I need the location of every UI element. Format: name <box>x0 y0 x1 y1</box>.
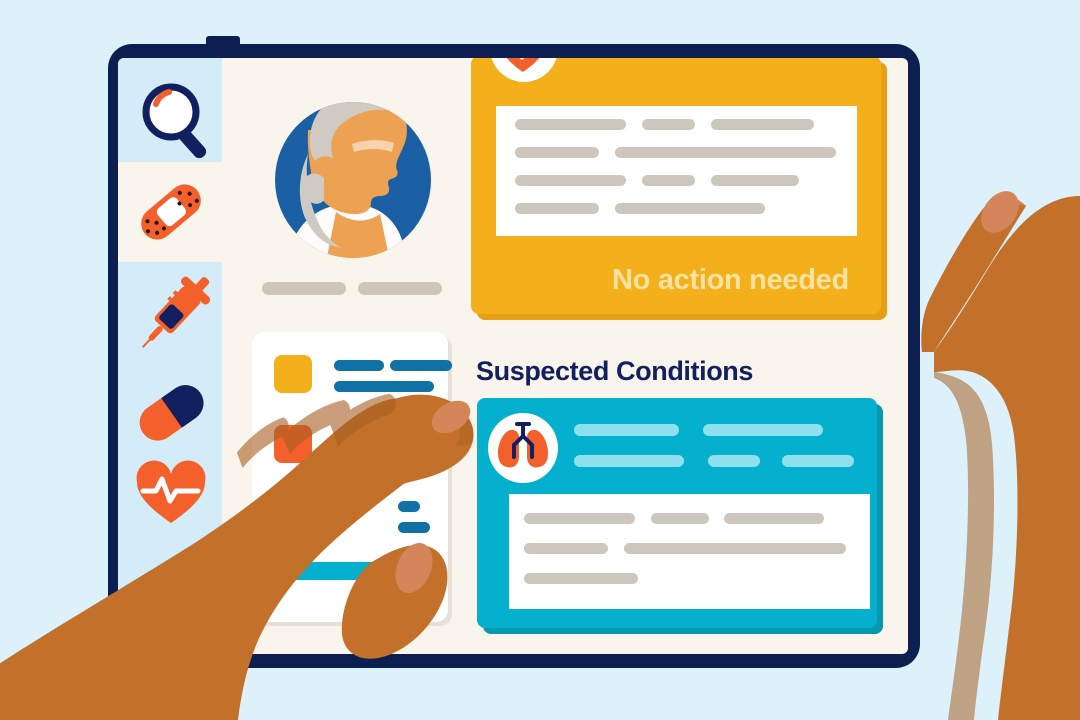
patient-name-bar <box>262 282 346 295</box>
condition-detail-panel <box>509 494 870 609</box>
lungs-icon[interactable] <box>488 413 558 483</box>
patient-id-bar <box>358 282 442 295</box>
illustration-canvas: No action needed Suspected Conditions <box>0 0 1080 720</box>
no-action-needed-label: No action needed <box>612 264 849 297</box>
suspected-conditions-heading: Suspected Conditions <box>476 356 753 387</box>
status-swatch-yellow <box>274 355 312 393</box>
alert-detail-panel <box>496 106 857 236</box>
suspected-condition-card[interactable] <box>477 398 883 634</box>
